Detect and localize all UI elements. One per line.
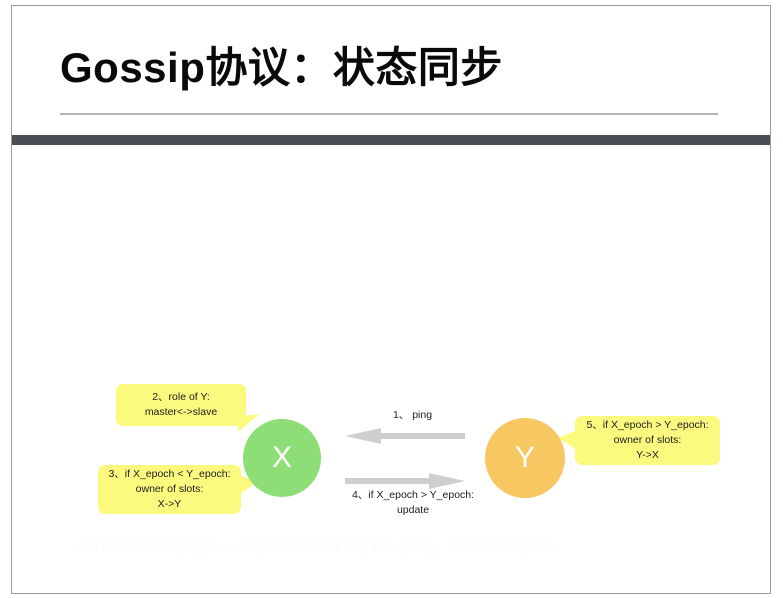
node-x: X — [243, 419, 321, 497]
arrow-label-update: 4、if X_epoch > Y_epoch: update — [323, 488, 503, 517]
header-accent-band — [12, 135, 770, 145]
slide-frame-top — [11, 5, 771, 6]
slide-frame-right — [770, 5, 771, 594]
callout-x-epoch-greater-line-1: 5、if X_epoch > Y_epoch: — [585, 418, 710, 433]
title-underline-rule — [60, 113, 718, 115]
watermark-text: 本资料仅供学习交流使用，未经授权请勿传播或用于商业用途，版权归原作者所有 — [74, 537, 734, 556]
callout-x-epoch-less-line-3: X->Y — [108, 497, 231, 512]
callout-x-epoch-less-line-1: 3、if X_epoch < Y_epoch: — [108, 467, 231, 482]
arrow-label-update-line-2: update — [323, 503, 503, 518]
slide-canvas: Gossip协议：状态同步 2、role of Y: master<->slav… — [0, 0, 783, 598]
node-y-label: Y — [515, 441, 535, 475]
callout-x-epoch-greater-line-2: owner of slots: — [585, 433, 710, 448]
callout-x-epoch-greater: 5、if X_epoch > Y_epoch: owner of slots: … — [575, 416, 720, 465]
diagram-area: 2、role of Y: master<->slave 3、if X_epoch… — [12, 146, 770, 593]
node-y: Y — [485, 418, 565, 498]
page-title: Gossip协议：状态同步 — [60, 44, 503, 92]
callout-x-epoch-less-line-2: owner of slots: — [108, 482, 231, 497]
callout-role-of-y: 2、role of Y: master<->slave — [116, 384, 246, 426]
callout-role-of-y-line-1: 2、role of Y: — [126, 390, 236, 405]
node-x-label: X — [272, 441, 292, 475]
callout-role-of-y-line-2: master<->slave — [126, 405, 236, 420]
arrow-ping-icon — [345, 428, 465, 449]
callout-x-epoch-less: 3、if X_epoch < Y_epoch: owner of slots: … — [98, 465, 241, 514]
arrow-label-update-line-1: 4、if X_epoch > Y_epoch: — [323, 488, 503, 503]
callout-x-epoch-greater-line-3: Y->X — [585, 448, 710, 463]
arrow-label-ping: 1、 ping — [345, 408, 480, 423]
slide-frame-bottom — [11, 593, 771, 594]
